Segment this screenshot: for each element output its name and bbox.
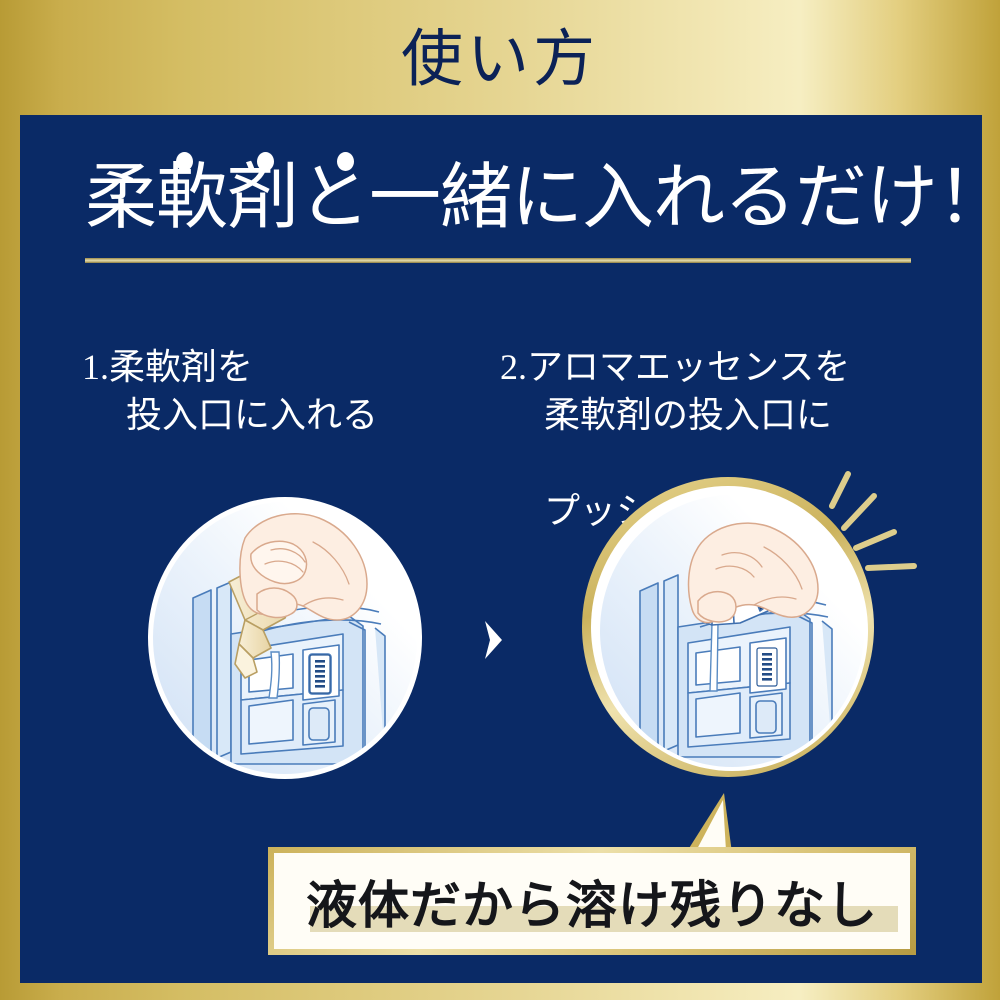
promo-page: 使い方 柔軟剤と一緒に入れるだけ！ 1.柔軟剤を 投入口に入れる 2.アロマエッ… [0,0,1000,1000]
step-2-number: 2. [500,347,527,387]
step-2-line-2: 柔軟剤の投入口に [500,392,940,440]
step-arrow-icon [480,618,506,662]
step-2-line-1: アロマエッセンスを [527,347,850,387]
page-header: 使い方 [0,0,1000,115]
headline: 柔軟剤と一緒に入れるだけ！ [85,162,925,234]
sparkle-icon [818,466,938,586]
callout-tail [676,793,736,855]
step-1-text: 1.柔軟剤を 投入口に入れる [82,296,482,488]
callout-text: 液体だから溶け残りなし [268,847,916,955]
dispenser-label [757,648,777,686]
washing-machine-dispenser-pour-illustration [153,502,417,774]
step-1-line-2: 投入口に入れる [82,392,482,440]
page-title: 使い方 [401,29,599,91]
dispenser-label [310,655,330,693]
illustration-step-1 [148,497,422,779]
headline-divider [85,258,911,263]
step-1-number: 1. [82,347,109,387]
step-1-line-1: 柔軟剤を [109,347,253,387]
